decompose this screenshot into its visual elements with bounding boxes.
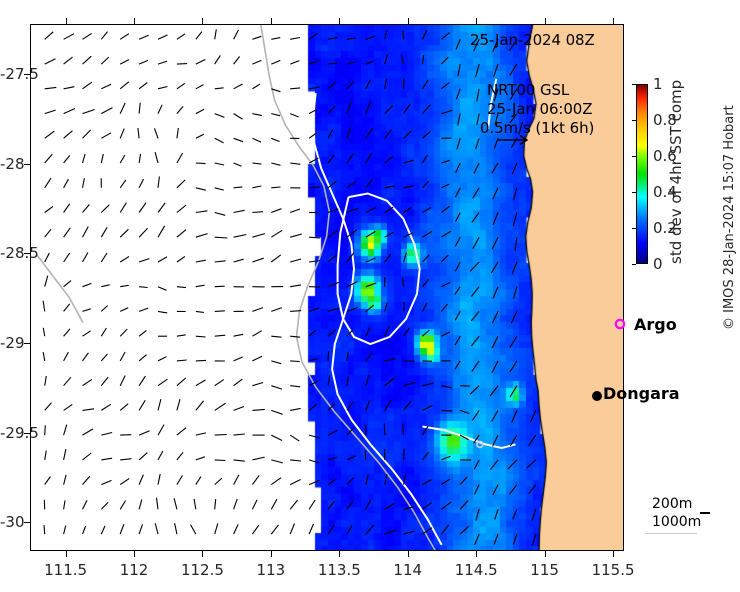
current-vector <box>120 352 125 361</box>
current-vector <box>64 228 71 237</box>
current-vector <box>252 212 263 213</box>
current-vector <box>493 435 499 446</box>
current-vector <box>215 188 224 190</box>
current-vector <box>366 353 372 361</box>
current-vector <box>177 106 183 113</box>
current-vector <box>385 156 393 163</box>
current-vector <box>196 457 205 460</box>
current-vector <box>234 460 245 461</box>
colorbar-title: std dev of 4hr SST comp <box>667 84 685 264</box>
current-vector <box>120 103 125 114</box>
current-vector <box>404 207 412 212</box>
current-vector <box>513 287 517 299</box>
current-vector <box>191 525 196 535</box>
current-vector <box>422 105 430 114</box>
current-vector <box>101 328 106 336</box>
current-vector <box>422 155 427 163</box>
current-vector <box>328 231 338 238</box>
current-vector <box>530 410 536 422</box>
y-tick-label: -27.5 <box>0 65 20 83</box>
current-vector <box>177 428 186 435</box>
current-vector <box>64 281 72 287</box>
current-vector <box>196 260 206 262</box>
current-vector <box>471 311 479 321</box>
current-vector <box>385 106 393 114</box>
current-vector <box>177 230 186 238</box>
current-vector <box>174 498 177 509</box>
current-vector <box>290 408 300 410</box>
current-vector <box>366 231 376 237</box>
current-vector <box>422 131 430 138</box>
current-vector <box>120 404 128 411</box>
current-vector <box>457 138 460 149</box>
current-vector <box>157 498 159 510</box>
x-tick <box>339 551 340 557</box>
current-vector <box>271 386 282 389</box>
current-vector <box>45 229 51 237</box>
current-vector <box>385 359 396 361</box>
current-vector <box>196 60 206 65</box>
x-tick-top <box>134 18 135 24</box>
current-vector <box>271 308 282 312</box>
x-tick-top <box>271 18 272 24</box>
current-vector <box>347 402 353 410</box>
current-vector <box>139 330 146 336</box>
current-vector <box>385 232 394 237</box>
current-vector <box>196 285 205 287</box>
current-vector <box>215 55 221 64</box>
colorbar-tick <box>632 192 636 193</box>
current-vector <box>422 55 423 64</box>
current-vector <box>194 499 196 509</box>
current-vector <box>271 230 282 237</box>
current-vector <box>290 500 297 509</box>
current-vector <box>158 35 168 39</box>
current-vector <box>309 237 320 238</box>
current-vector <box>252 114 261 116</box>
x-tick-label: 115.5 <box>592 561 635 579</box>
current-vector <box>328 63 337 64</box>
current-vector <box>155 128 159 138</box>
current-vector <box>45 32 54 40</box>
current-vector <box>309 404 317 410</box>
current-vector <box>139 203 146 213</box>
current-vector <box>290 285 301 287</box>
x-tick-label: 111.5 <box>44 561 87 579</box>
current-vector <box>158 451 163 460</box>
current-vector <box>347 456 356 460</box>
current-vector <box>455 361 460 369</box>
current-vector <box>476 64 480 77</box>
current-vector <box>404 186 414 188</box>
current-vector <box>404 302 405 311</box>
current-vector <box>347 82 354 89</box>
current-vector <box>234 187 243 188</box>
current-vector <box>470 386 479 395</box>
current-vector <box>441 525 449 534</box>
current-vector <box>510 485 517 495</box>
current-vector <box>138 128 139 138</box>
current-vector <box>328 129 333 138</box>
current-vector <box>234 475 239 485</box>
current-vector <box>196 433 206 435</box>
x-tick <box>476 551 477 557</box>
bathymetry-200m-swatch <box>645 533 697 536</box>
current-vector <box>139 154 141 163</box>
current-vector <box>474 163 479 173</box>
current-vector <box>512 262 517 274</box>
current-vector <box>290 234 302 237</box>
current-vector <box>328 501 334 509</box>
current-vector <box>83 309 91 312</box>
current-vector <box>470 262 479 271</box>
current-vector <box>385 79 387 89</box>
current-vector <box>120 60 129 65</box>
current-vector <box>347 308 358 312</box>
current-vector <box>234 259 244 262</box>
current-vector <box>120 524 124 534</box>
current-vector <box>328 375 330 385</box>
current-vector <box>290 209 300 213</box>
y-tick <box>24 164 30 165</box>
current-vector <box>158 226 165 237</box>
current-vector <box>252 383 263 386</box>
current-vector <box>234 57 240 65</box>
current-vector <box>45 154 53 163</box>
current-vector <box>139 355 146 361</box>
current-vector <box>493 188 498 200</box>
current-vector <box>511 311 517 323</box>
current-vector <box>64 404 73 410</box>
current-vector <box>64 253 70 262</box>
current-vector <box>441 502 451 509</box>
current-vector <box>492 361 498 373</box>
current-vector <box>347 501 353 509</box>
current-vector <box>328 457 338 460</box>
current-vector <box>441 479 450 485</box>
current-vector <box>476 138 479 149</box>
current-vector <box>328 330 336 336</box>
current-vector <box>422 330 429 336</box>
current-vector <box>271 114 280 116</box>
current-vector <box>458 64 460 76</box>
current-vector <box>234 434 245 435</box>
x-tick <box>545 551 546 557</box>
current-vector <box>403 424 404 435</box>
current-vector <box>492 410 498 421</box>
current-vector <box>422 452 428 460</box>
current-vector <box>512 410 517 422</box>
current-vector <box>252 475 259 484</box>
current-vector <box>101 227 107 237</box>
y-tick-label: -28 <box>0 155 20 173</box>
current-vector <box>455 262 460 271</box>
current-vector <box>83 56 92 64</box>
current-vector <box>83 331 91 336</box>
current-vector <box>404 507 415 510</box>
current-vector <box>290 88 300 89</box>
current-vector <box>215 88 224 89</box>
current-vector <box>64 329 70 336</box>
current-vector <box>366 526 374 535</box>
current-vector <box>139 60 148 64</box>
current-vector <box>101 306 107 312</box>
right-arrow-icon <box>496 132 536 148</box>
current-vector <box>64 87 75 89</box>
current-vector <box>347 182 356 188</box>
y-tick <box>24 522 30 523</box>
current-vector <box>328 82 336 89</box>
current-vector <box>513 509 517 519</box>
current-vector <box>120 285 129 286</box>
current-vector <box>493 213 498 225</box>
current-vector <box>196 188 206 190</box>
current-vector <box>441 304 447 311</box>
current-vector <box>441 456 450 460</box>
current-vector <box>120 308 128 312</box>
current-vector <box>158 203 165 213</box>
current-vector <box>252 356 262 361</box>
current-vector <box>83 526 86 534</box>
current-vector <box>120 203 126 213</box>
current-vector <box>177 153 183 163</box>
current-vector <box>252 409 264 410</box>
current-vector <box>455 336 460 345</box>
current-vector <box>366 283 377 287</box>
current-vector <box>309 460 319 463</box>
contour-200m <box>53 57 149 182</box>
current-vector <box>45 206 53 212</box>
current-vector <box>404 131 412 139</box>
current-vector <box>495 509 498 519</box>
current-vector <box>532 509 536 520</box>
current-vector <box>494 64 498 77</box>
current-vector <box>120 459 131 460</box>
current-vector <box>234 30 239 39</box>
current-vector <box>177 360 187 361</box>
current-vector <box>385 504 394 510</box>
current-vector <box>120 501 125 510</box>
current-vector <box>158 105 162 114</box>
current-vector <box>513 534 517 544</box>
current-vector <box>252 258 263 262</box>
current-vector <box>196 360 206 361</box>
current-vector <box>366 500 371 510</box>
current-vector <box>83 205 90 213</box>
current-vector <box>45 253 50 262</box>
current-vector <box>215 523 218 534</box>
current-vector <box>309 480 319 484</box>
x-tick <box>134 551 135 557</box>
current-vector <box>422 255 429 262</box>
current-vector <box>177 128 179 138</box>
current-vector <box>139 83 147 89</box>
current-vector <box>476 509 479 520</box>
current-vector <box>158 474 160 485</box>
current-vector <box>101 32 107 40</box>
current-vector <box>101 108 112 114</box>
current-vector <box>404 328 410 337</box>
x-tick-top <box>339 18 340 24</box>
current-vector <box>385 55 388 64</box>
current-vector <box>422 231 432 237</box>
current-vector <box>196 32 202 40</box>
current-vector <box>472 213 479 223</box>
current-vector <box>290 114 299 117</box>
current-vector <box>83 429 94 435</box>
contour-1000m <box>261 25 436 551</box>
current-vector <box>309 500 315 509</box>
current-vector <box>458 114 461 126</box>
current-vector <box>328 430 337 435</box>
current-vector <box>64 57 73 64</box>
current-vector <box>347 62 355 64</box>
current-vector <box>139 35 149 39</box>
x-tick <box>271 551 272 557</box>
current-vector <box>64 34 74 40</box>
current-vector <box>139 431 150 435</box>
x-tick <box>66 551 67 557</box>
current-vector <box>309 87 319 89</box>
current-vector <box>472 361 479 372</box>
x-tick-label: 114.5 <box>455 561 498 579</box>
current-vector <box>215 29 217 39</box>
current-vector <box>404 160 414 163</box>
current-vector <box>215 237 228 238</box>
contour-200m-south <box>422 427 515 449</box>
current-vector <box>366 128 373 138</box>
current-vector <box>271 525 278 534</box>
current-vector <box>366 305 374 311</box>
x-tick-top <box>545 18 546 24</box>
current-vector <box>491 262 498 273</box>
contour-200m-shelf <box>313 93 442 545</box>
current-vector <box>404 531 415 534</box>
current-vector <box>45 131 55 138</box>
current-vector-field <box>43 29 536 545</box>
current-vector <box>252 186 261 188</box>
current-vector <box>508 460 517 469</box>
current-vector <box>513 188 517 200</box>
current-vector <box>490 386 498 396</box>
current-vector <box>492 311 498 323</box>
x-tick-top <box>613 18 614 24</box>
current-vector <box>215 435 227 436</box>
current-vector <box>252 138 261 142</box>
current-vector <box>83 178 85 188</box>
current-vector <box>64 109 75 114</box>
current-vector <box>529 435 536 446</box>
current-vector <box>441 184 449 188</box>
current-vector <box>366 36 375 39</box>
current-vector <box>404 382 416 385</box>
current-vector <box>83 476 90 484</box>
current-vector <box>403 30 404 39</box>
y-tick-label: -30 <box>0 513 20 531</box>
current-vector <box>456 163 461 173</box>
current-vector <box>64 204 70 213</box>
current-vector <box>252 457 264 460</box>
current-vector <box>441 57 448 64</box>
current-vector <box>328 479 336 484</box>
current-vector <box>196 134 204 138</box>
current-vector <box>120 257 129 263</box>
current-vector <box>271 336 281 337</box>
current-vector <box>83 33 92 39</box>
current-vector <box>234 138 243 141</box>
current-vector <box>120 129 124 139</box>
current-vector <box>510 64 517 75</box>
current-vector <box>175 523 177 534</box>
current-vector <box>271 163 280 165</box>
colorbar-tick <box>632 228 636 229</box>
current-vector <box>309 330 316 336</box>
current-vector <box>252 163 261 164</box>
current-vector <box>328 525 334 534</box>
current-vector <box>441 255 448 262</box>
current-vector <box>196 85 204 89</box>
current-vector <box>494 534 498 544</box>
current-vector <box>404 253 407 262</box>
current-vector <box>347 38 356 39</box>
current-vector <box>290 386 300 387</box>
current-vector <box>366 258 376 262</box>
current-vector <box>64 475 67 485</box>
x-tick <box>408 551 409 557</box>
current-vector <box>404 474 406 484</box>
current-vector <box>441 33 449 40</box>
current-vector <box>64 425 67 435</box>
current-vector <box>234 163 242 166</box>
current-vector <box>252 308 263 312</box>
current-vector <box>45 403 52 411</box>
current-vector <box>234 84 243 89</box>
current-vector <box>158 257 167 262</box>
current-vector <box>401 55 403 64</box>
current-vector <box>366 102 371 114</box>
current-vector <box>271 255 280 262</box>
current-vector <box>290 38 300 40</box>
current-vector <box>234 334 244 336</box>
current-vector <box>422 181 428 188</box>
current-vector <box>45 425 46 435</box>
current-vector <box>64 155 70 163</box>
current-vector <box>385 30 387 39</box>
current-vector <box>101 133 111 139</box>
x-tick-top <box>408 18 409 24</box>
colorbar-tick-label: 0 <box>653 255 663 273</box>
current-vector <box>45 110 56 114</box>
colorbar-tick-label: 1 <box>653 75 663 93</box>
current-vector <box>177 399 180 410</box>
current-vector <box>290 259 301 262</box>
current-vector <box>252 36 261 39</box>
current-vector <box>347 128 351 139</box>
current-vector <box>347 102 351 113</box>
current-vector <box>139 524 142 534</box>
current-vector <box>492 163 498 173</box>
current-vector <box>385 400 391 410</box>
current-vector <box>422 480 431 485</box>
current-vector <box>234 499 238 509</box>
current-vector <box>83 130 91 138</box>
current-vector <box>441 410 452 411</box>
current-vector <box>309 33 317 39</box>
current-vector <box>366 179 373 188</box>
current-vector <box>347 376 349 385</box>
current-vector <box>422 383 433 386</box>
current-vector <box>196 109 204 113</box>
